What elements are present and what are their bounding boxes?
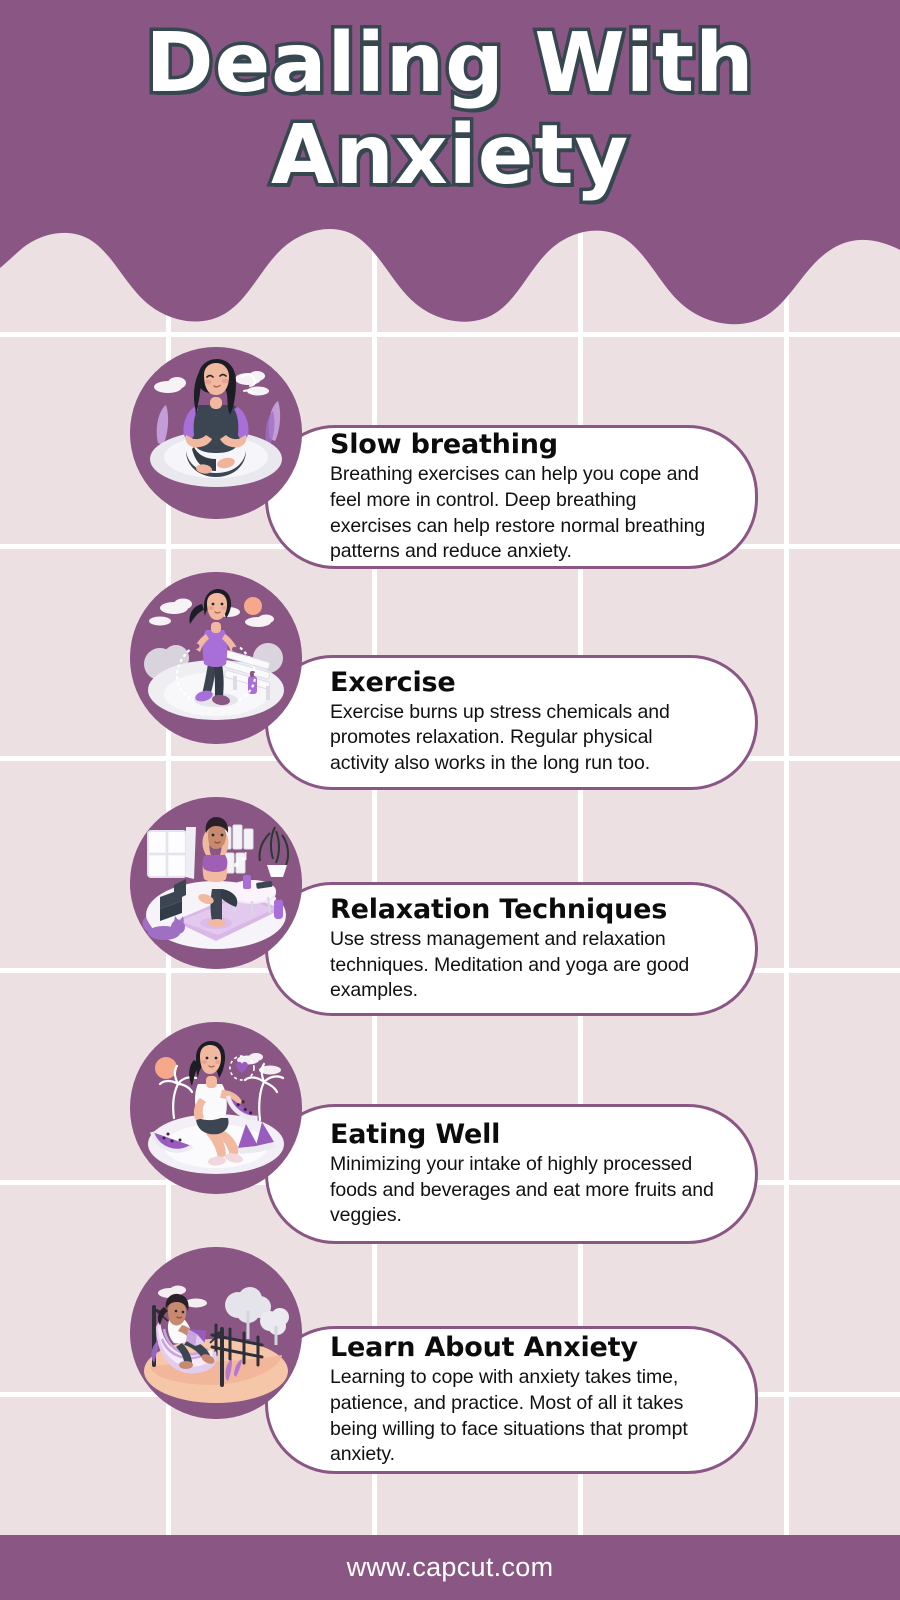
section-body: Breathing exercises can help you cope an…: [330, 462, 715, 564]
section-body: Minimizing your intake of highly process…: [330, 1152, 715, 1229]
yoga-tree-pose-illustration: [130, 797, 302, 969]
page-title-line-1: Dealing With: [0, 18, 900, 110]
page-title: Dealing With Anxiety: [0, 18, 900, 202]
header-banner: Dealing With Anxiety: [0, 0, 900, 330]
infographic-poster: Dealing With Anxiety: [0, 0, 900, 1600]
section-body: Learning to cope with anxiety takes time…: [330, 1365, 715, 1467]
section-body: Exercise burns up stress chemicals and p…: [330, 700, 715, 777]
section-title: Exercise: [330, 667, 715, 698]
section-card[interactable]: Slow breathing Breathing exercises can h…: [265, 425, 758, 569]
woman-reading-hammock-illustration: [130, 1247, 302, 1419]
footer-bar: www.capcut.com: [0, 1535, 900, 1600]
section-card[interactable]: Relaxation Techniques Use stress managem…: [265, 882, 758, 1016]
section-body: Use stress management and relaxation tec…: [330, 927, 715, 1004]
meditating-woman-illustration: [130, 347, 302, 519]
section-title: Slow breathing: [330, 429, 715, 460]
footer-url[interactable]: www.capcut.com: [347, 1552, 554, 1583]
section-card[interactable]: Eating Well Minimizing your intake of hi…: [265, 1104, 758, 1244]
jump-rope-woman-illustration: [130, 572, 302, 744]
section-title: Eating Well: [330, 1119, 715, 1150]
page-title-line-2: Anxiety: [0, 110, 900, 202]
section-card[interactable]: Learn About Anxiety Learning to cope wit…: [265, 1326, 758, 1474]
section-title: Learn About Anxiety: [330, 1332, 715, 1363]
section-title: Relaxation Techniques: [330, 894, 715, 925]
section-card[interactable]: Exercise Exercise burns up stress chemic…: [265, 655, 758, 790]
woman-eating-watermelon-illustration: [130, 1022, 302, 1194]
